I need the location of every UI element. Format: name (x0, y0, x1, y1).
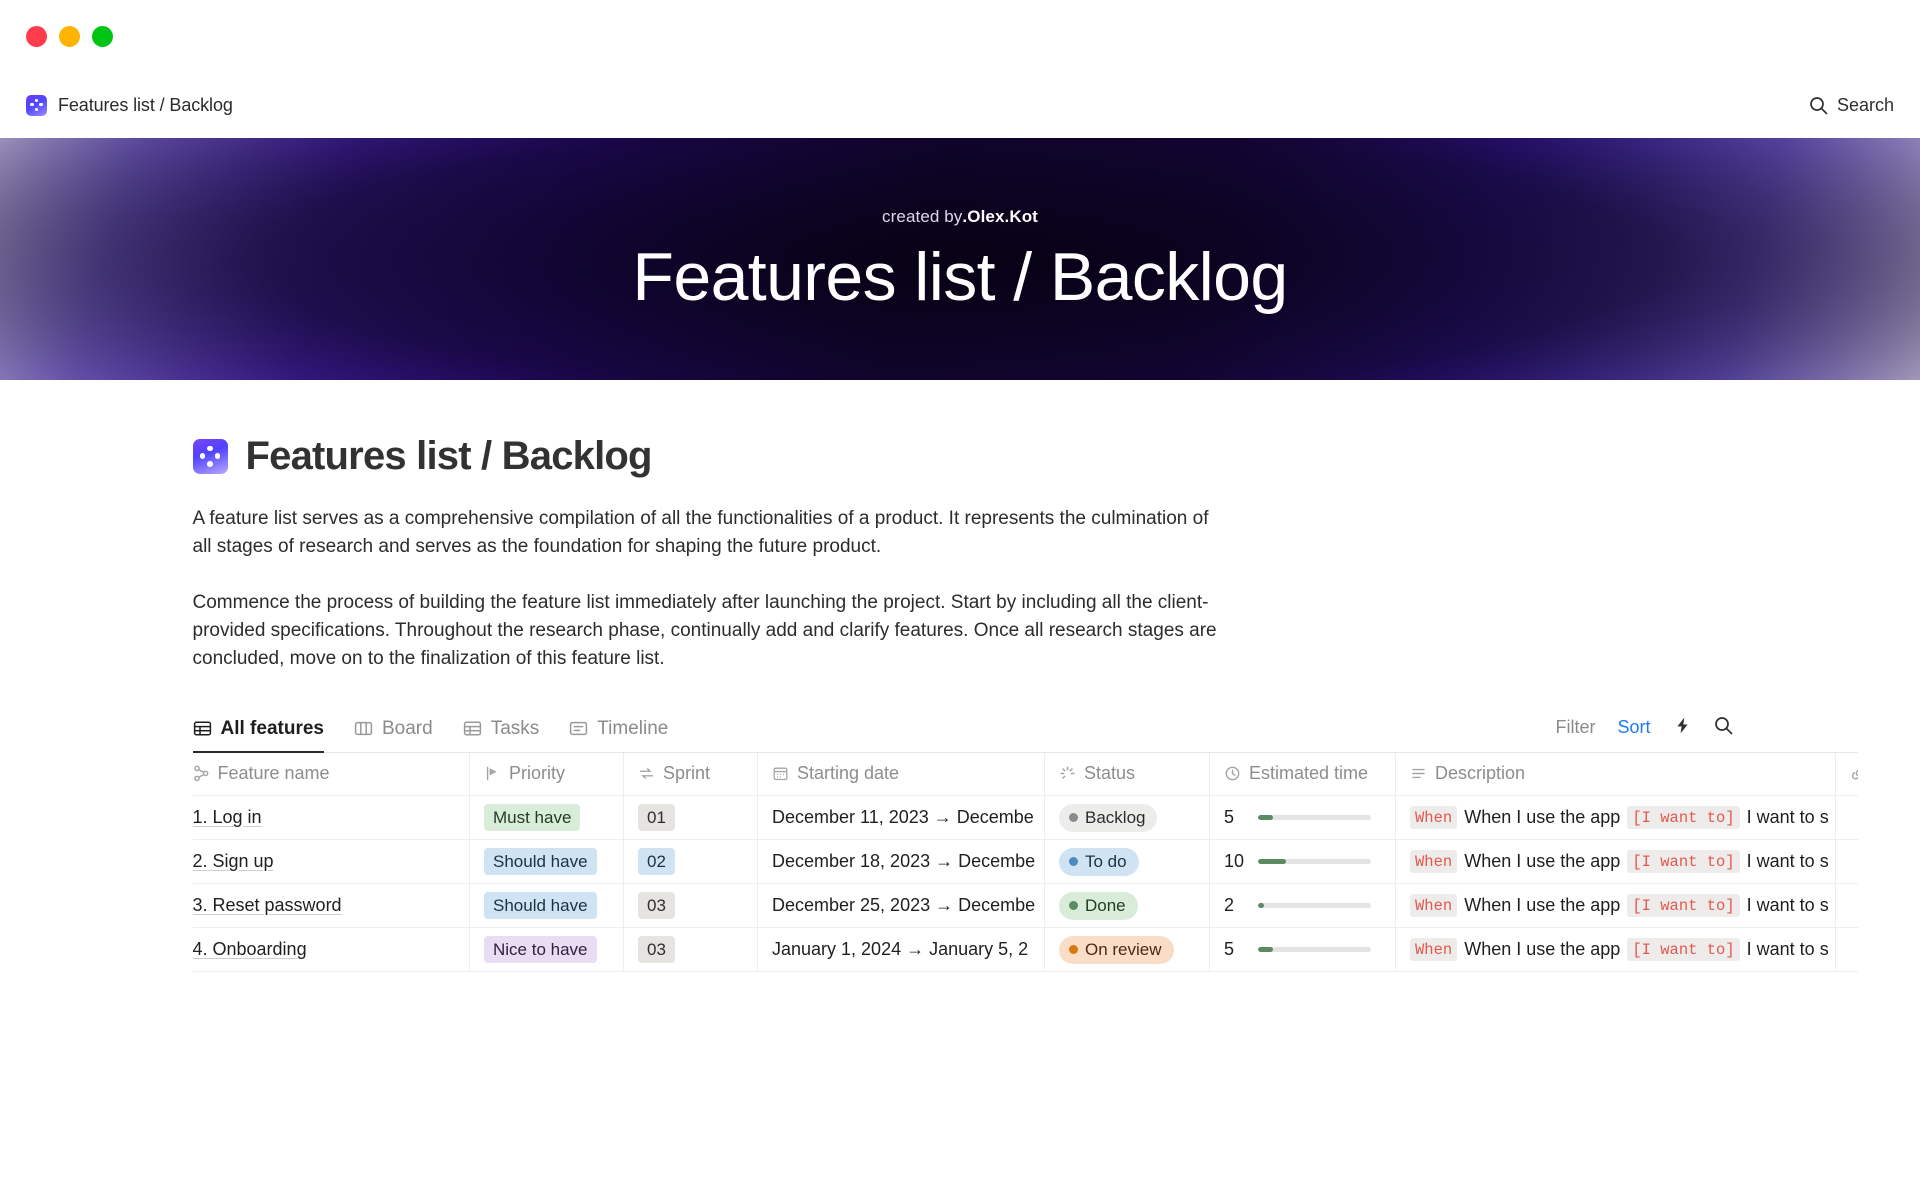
cell-starting-date[interactable]: December 18, 2023 → Decembe (758, 840, 1045, 884)
description-text-2: I want to s (1747, 807, 1829, 828)
page-title: Features list / Backlog (246, 434, 652, 479)
estimated-time-bar (1258, 947, 1371, 952)
columns-icon (354, 719, 373, 738)
cell-status[interactable]: Backlog (1045, 796, 1210, 840)
estimated-time-bar-fill (1258, 947, 1273, 952)
estimated-time-bar-fill (1258, 815, 1273, 820)
page-body: Features list / Backlog A feature list s… (0, 380, 1920, 972)
estimated-time-bar (1258, 815, 1371, 820)
repeat-icon (638, 765, 655, 782)
description-text-2: I want to s (1747, 939, 1829, 960)
filter-button[interactable]: Filter (1555, 717, 1595, 738)
breadcrumb[interactable]: Features list / Backlog (26, 95, 233, 116)
description-code-i-want-to: [I want to] (1627, 850, 1739, 873)
search-icon[interactable] (1714, 716, 1733, 740)
feature-name-link[interactable]: 3. Reset password (193, 895, 342, 915)
description-code-i-want-to: [I want to] (1627, 938, 1739, 961)
cell-description[interactable]: When When I use the app [I want to] I wa… (1396, 884, 1836, 928)
cell-feature-name[interactable]: 4. Onboarding (193, 928, 470, 972)
cell-description[interactable]: When When I use the app [I want to] I wa… (1396, 928, 1836, 972)
column-header-label: Feature name (218, 763, 330, 784)
feature-name-link[interactable]: 1. Log in (193, 807, 262, 827)
spinner-icon (1059, 765, 1076, 782)
feature-name-link[interactable]: 4. Onboarding (193, 939, 307, 959)
status-dot-icon (1069, 901, 1078, 910)
description-code-when: When (1410, 850, 1457, 873)
app-logo-icon (26, 95, 47, 116)
status-label: Done (1085, 896, 1126, 916)
cell-sprint[interactable]: 02 (624, 840, 758, 884)
text-lines-icon (1410, 765, 1427, 782)
column-header-feature-name[interactable]: Feature name (193, 753, 470, 796)
hero-title: Features list / Backlog (632, 243, 1287, 311)
estimated-time-value: 10 (1224, 851, 1248, 872)
hero-banner: created by.Olex.Kot Features list / Back… (0, 138, 1920, 380)
hero-credit-prefix: created by (882, 207, 962, 226)
sprint-badge: 02 (638, 848, 675, 876)
estimated-time-value: 2 (1224, 895, 1248, 916)
estimated-time-value: 5 (1224, 807, 1248, 828)
search-button[interactable]: Search (1809, 95, 1894, 116)
cell-description[interactable]: When When I use the app [I want to] I wa… (1396, 840, 1836, 884)
document-logo-icon (193, 439, 228, 474)
hero-credit: created by.Olex.Kot (882, 207, 1038, 227)
cell-starting-date[interactable]: December 25, 2023 → Decembe (758, 884, 1045, 928)
estimated-time-bar-fill (1258, 859, 1286, 864)
priority-badge: Should have (484, 892, 597, 920)
status-label: On review (1085, 940, 1162, 960)
tab-tasks[interactable]: Tasks (463, 718, 540, 753)
cell-sprint[interactable]: 01 (624, 796, 758, 840)
status-badge: Backlog (1059, 804, 1157, 832)
estimated-time-bar-fill (1258, 903, 1264, 908)
column-header-label: Sprint (663, 763, 710, 784)
sort-button[interactable]: Sort (1617, 717, 1650, 738)
content-column: Features list / Backlog A feature list s… (63, 434, 1858, 972)
priority-badge: Nice to have (484, 936, 597, 964)
features-table-wrapper: Feature name P (193, 753, 1858, 973)
cell-priority[interactable]: Should have (470, 840, 624, 884)
tab-all-features[interactable]: All features (193, 718, 324, 753)
cell-description[interactable]: When When I use the app [I want to] I wa… (1396, 796, 1836, 840)
features-table: Feature name P (193, 753, 1858, 973)
sprint-badge: 03 (638, 892, 675, 920)
status-dot-icon (1069, 857, 1078, 866)
lightning-icon[interactable] (1673, 716, 1692, 740)
description-paragraph-1: A feature list serves as a comprehensive… (193, 505, 1218, 561)
column-header-link[interactable]: Link (1836, 753, 1858, 796)
table-icon (193, 719, 212, 738)
status-label: Backlog (1085, 808, 1145, 828)
description-code-when: When (1410, 806, 1457, 829)
estimated-time-bar (1258, 859, 1371, 864)
table-header-row: Feature name P (193, 753, 1858, 796)
description-text-1: When I use the app (1464, 939, 1620, 960)
description-code-i-want-to: [I want to] (1627, 894, 1739, 917)
calendar-icon (772, 765, 789, 782)
column-header-label: Estimated time (1249, 763, 1368, 784)
clock-icon (1224, 765, 1241, 782)
view-tabs: All features Board (193, 718, 669, 752)
cell-feature-name[interactable]: 1. Log in (193, 796, 470, 840)
minimize-button[interactable] (59, 26, 80, 47)
column-header-label: Status (1084, 763, 1135, 784)
cell-estimated-time[interactable]: 10 (1210, 840, 1396, 884)
search-button-label: Search (1837, 95, 1894, 116)
app-topbar: Features list / Backlog Search (0, 72, 1920, 138)
cell-priority[interactable]: Should have (470, 884, 624, 928)
window-titlebar (0, 0, 1920, 72)
description-text-1: When I use the app (1464, 807, 1620, 828)
sprint-badge: 01 (638, 804, 675, 832)
description-text-2: I want to s (1747, 851, 1829, 872)
status-label: To do (1085, 852, 1127, 872)
status-badge: On review (1059, 936, 1174, 964)
status-dot-icon (1069, 813, 1078, 822)
tab-board[interactable]: Board (354, 718, 433, 753)
tab-label: Board (382, 718, 433, 740)
cell-starting-date[interactable]: January 1, 2024 → January 5, 2 (758, 928, 1045, 972)
cell-estimated-time[interactable]: 5 (1210, 796, 1396, 840)
table-row[interactable]: 4. Onboarding Nice to have 03 January 1,… (193, 928, 1858, 972)
view-tools: Filter Sort (1555, 716, 1732, 752)
cell-status[interactable]: Done (1045, 884, 1210, 928)
flag-icon (484, 765, 501, 782)
priority-badge: Should have (484, 848, 597, 876)
column-header-status[interactable]: Status (1045, 753, 1210, 796)
column-header-label: Starting date (797, 763, 899, 784)
tab-label: Timeline (597, 718, 668, 740)
status-dot-icon (1069, 945, 1078, 954)
column-header-label: Priority (509, 763, 565, 784)
hero-credit-author: .Olex.Kot (962, 207, 1038, 226)
description-code-when: When (1410, 938, 1457, 961)
column-header-sprint[interactable]: Sprint (624, 753, 758, 796)
description-code-when: When (1410, 894, 1457, 917)
description-text-1: When I use the app (1464, 895, 1620, 916)
cell-feature-name[interactable]: 2. Sign up (193, 840, 470, 884)
cell-priority[interactable]: Nice to have (470, 928, 624, 972)
estimated-time-bar (1258, 903, 1371, 908)
table-icon (463, 719, 482, 738)
cell-priority[interactable]: Must have (470, 796, 624, 840)
status-badge: To do (1059, 848, 1139, 876)
table-row[interactable]: 2. Sign up Should have 02 December 18, 2… (193, 840, 1858, 884)
column-header-description[interactable]: Description (1396, 753, 1836, 796)
description-paragraph-2: Commence the process of building the fea… (193, 589, 1218, 673)
feature-name-link[interactable]: 2. Sign up (193, 851, 274, 871)
table-row[interactable]: 3. Reset password Should have 03 Decembe… (193, 884, 1858, 928)
priority-badge: Must have (484, 804, 580, 832)
page-title-row: Features list / Backlog (193, 434, 1858, 479)
node-graph-icon (193, 765, 210, 782)
tab-timeline[interactable]: Timeline (569, 718, 668, 753)
cell-link[interactable] (1836, 840, 1858, 884)
link-icon (1850, 765, 1858, 782)
column-header-starting-date[interactable]: Starting date (758, 753, 1045, 796)
description-text-1: When I use the app (1464, 851, 1620, 872)
cell-link[interactable] (1836, 796, 1858, 840)
timeline-icon (569, 719, 588, 738)
close-button[interactable] (26, 26, 47, 47)
tab-label: All features (221, 718, 324, 740)
breadcrumb-label: Features list / Backlog (58, 95, 233, 116)
cell-sprint[interactable]: 03 (624, 928, 758, 972)
traffic-lights (26, 26, 113, 47)
search-icon (1809, 96, 1828, 115)
cell-feature-name[interactable]: 3. Reset password (193, 884, 470, 928)
description-code-i-want-to: [I want to] (1627, 806, 1739, 829)
cell-status[interactable]: On review (1045, 928, 1210, 972)
cell-starting-date[interactable]: December 11, 2023 → Decembe (758, 796, 1045, 840)
cell-link[interactable] (1836, 884, 1858, 928)
column-header-label: Description (1435, 763, 1525, 784)
column-header-estimated-time[interactable]: Estimated time (1210, 753, 1396, 796)
estimated-time-value: 5 (1224, 939, 1248, 960)
tab-label: Tasks (491, 718, 540, 740)
sprint-badge: 03 (638, 936, 675, 964)
cell-status[interactable]: To do (1045, 840, 1210, 884)
table-row[interactable]: 1. Log in Must have 01 December 11, 2023… (193, 796, 1858, 840)
description-text-2: I want to s (1747, 895, 1829, 916)
column-header-priority[interactable]: Priority (470, 753, 624, 796)
cell-estimated-time[interactable]: 5 (1210, 928, 1396, 972)
cell-estimated-time[interactable]: 2 (1210, 884, 1396, 928)
status-badge: Done (1059, 892, 1138, 920)
cell-link[interactable] (1836, 928, 1858, 972)
cell-sprint[interactable]: 03 (624, 884, 758, 928)
view-switcher-bar: All features Board (193, 716, 1858, 753)
maximize-button[interactable] (92, 26, 113, 47)
